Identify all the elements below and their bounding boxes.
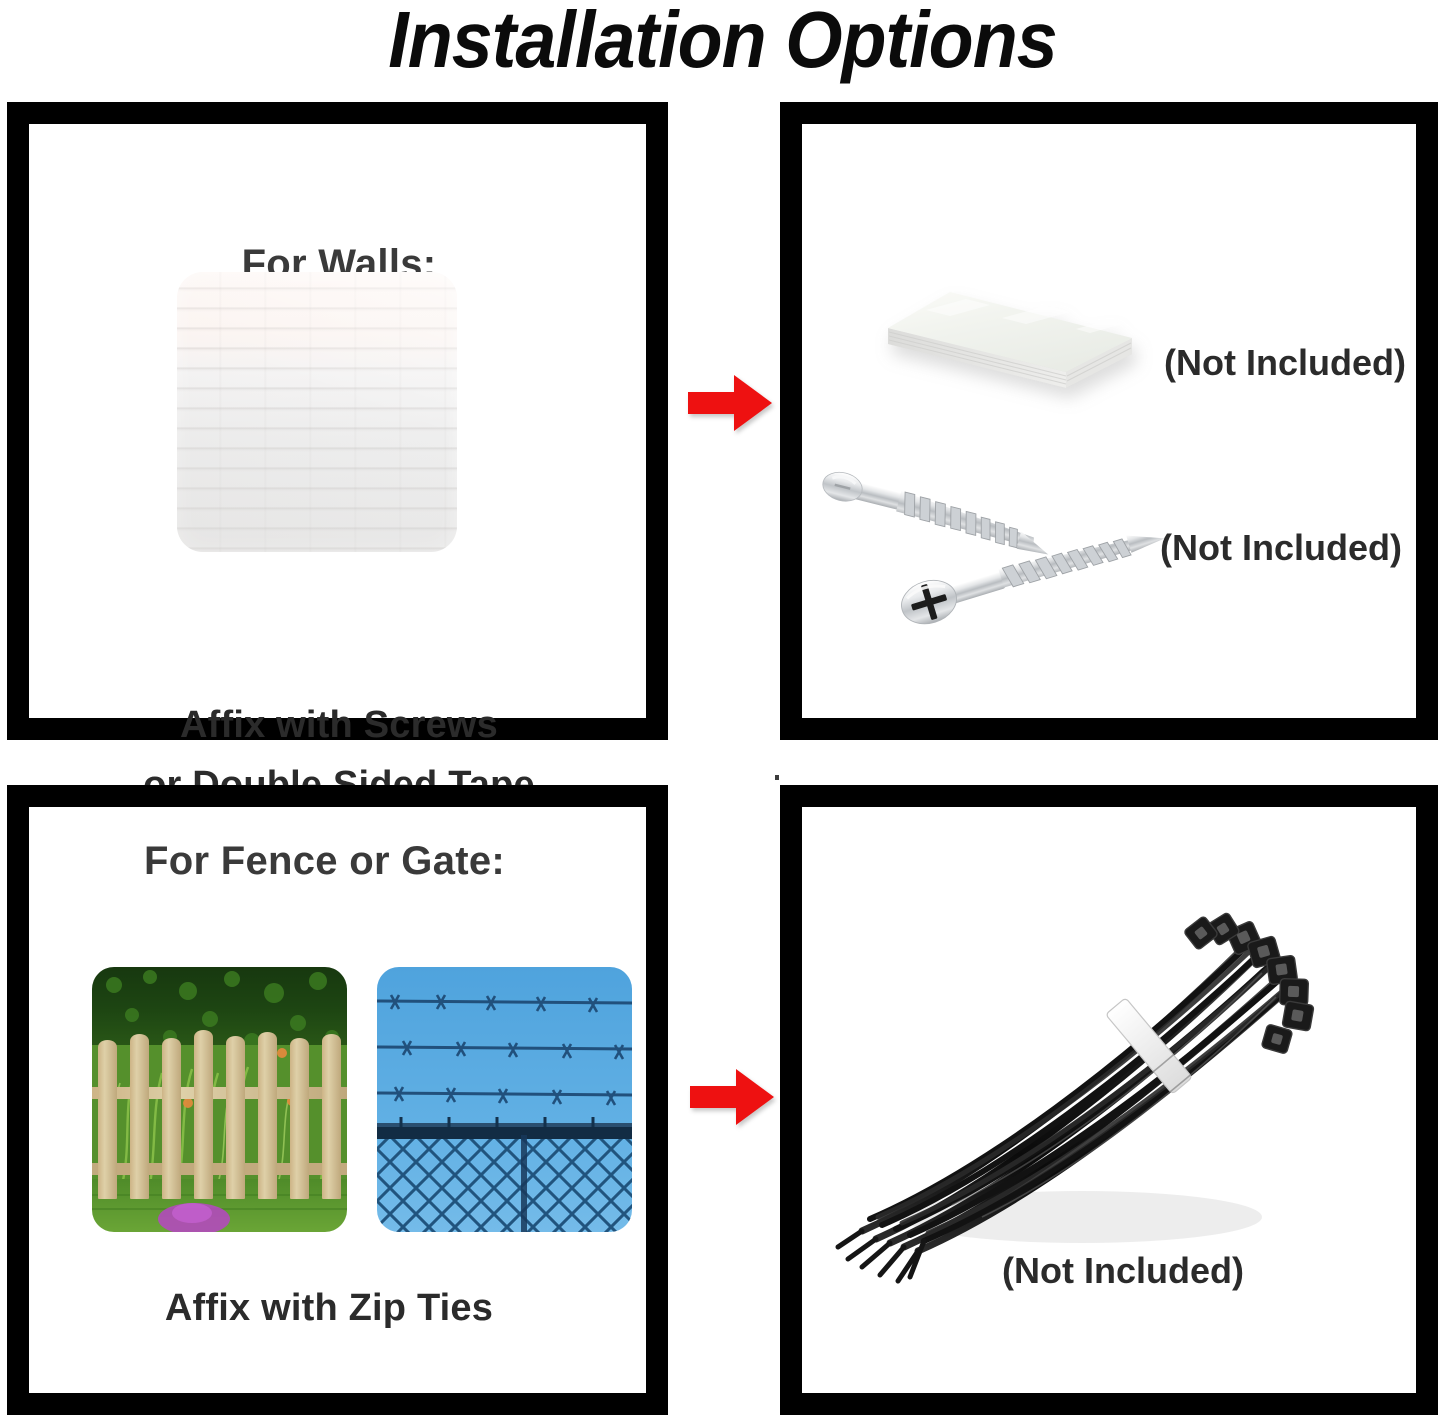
screws-not-included-label: (Not Included): [1160, 527, 1402, 569]
for-walls-caption-line-1: Affix with Screws: [59, 704, 619, 747]
panel-fence-hardware: (Not Included): [780, 785, 1438, 1415]
red-right-arrow-icon-bottom: [688, 1066, 776, 1128]
image-speck: [775, 775, 779, 780]
for-fence-heading: For Fence or Gate:: [144, 839, 604, 884]
panel-fence-hardware-content: (Not Included): [802, 807, 1416, 1393]
red-right-arrow-icon: [686, 372, 774, 434]
black-zip-ties-bundle-image: [832, 887, 1332, 1287]
panel-wall-hardware-content: (Not Included): [802, 124, 1416, 718]
panel-for-walls: For Walls: Affix with Screws or Double S…: [7, 102, 668, 740]
panel-wall-hardware: (Not Included): [780, 102, 1438, 740]
for-fence-caption: Affix with Zip Ties: [59, 1287, 599, 1330]
panel-for-fence-or-gate: For Fence or Gate:: [7, 785, 668, 1415]
brick-shading-overlay: [177, 272, 457, 552]
chain-link-barbed-wire-fence-image: [377, 967, 632, 1232]
wood-screws-image: [812, 444, 1172, 634]
double-sided-tape-stack-image: [870, 236, 1140, 411]
panel-for-walls-content: For Walls: Affix with Screws or Double S…: [29, 124, 646, 718]
page-title: Installation Options: [58, 0, 1387, 86]
zipties-not-included-label: (Not Included): [1002, 1250, 1244, 1292]
panel-for-fence-content: For Fence or Gate:: [29, 807, 646, 1393]
wooden-picket-fence-image: [92, 967, 347, 1232]
tape-not-included-label: (Not Included): [1164, 342, 1406, 384]
white-brick-wall-image: [177, 272, 457, 552]
